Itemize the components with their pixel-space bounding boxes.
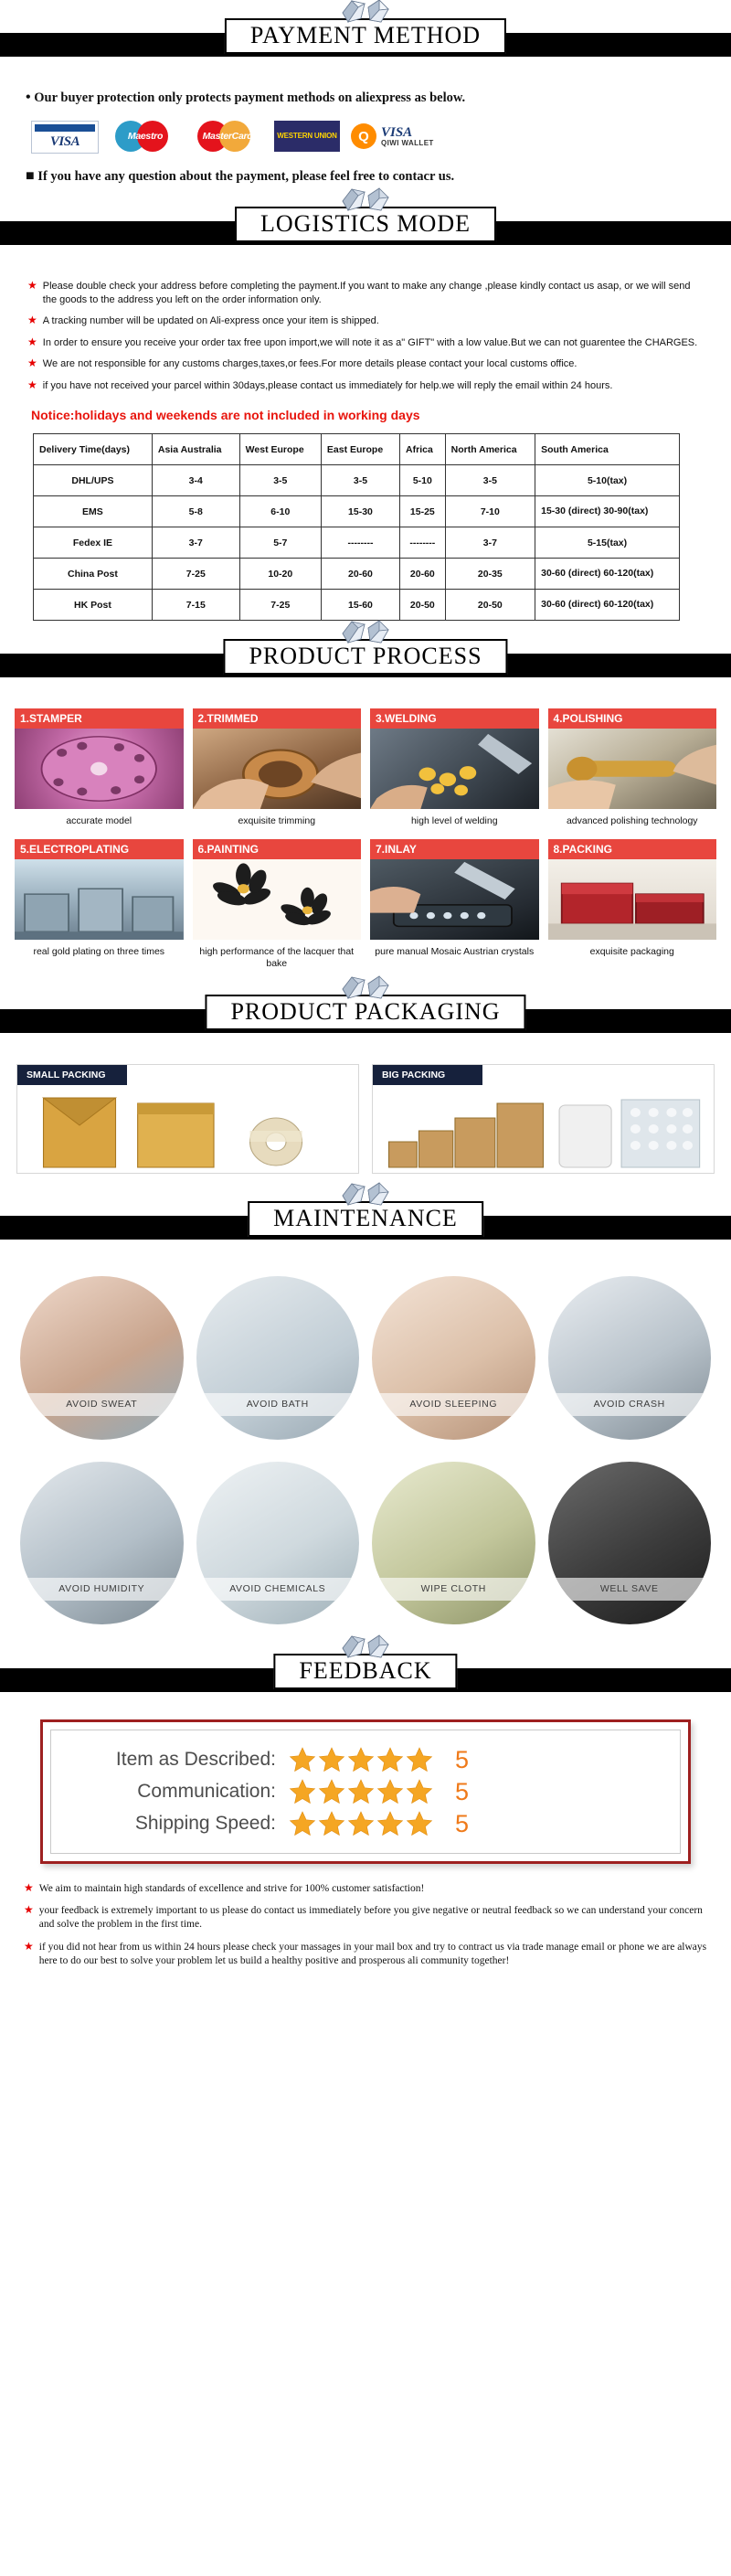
payment-icon-western-union: WESTERN UNION: [274, 121, 340, 152]
cell-method: EMS: [34, 496, 153, 527]
maintenance-image: WIPE CLOTH: [372, 1462, 535, 1625]
process-step-heading: 8.PACKING: [548, 839, 717, 859]
cell-value: 30-60 (direct) 60-120(tax): [535, 559, 680, 590]
col-asia-australia: Asia Australia: [152, 434, 239, 465]
cell-method: China Post: [34, 559, 153, 590]
process-step-heading: 1.STAMPER: [15, 708, 184, 729]
star-icon: [376, 1746, 404, 1773]
star-icon: [406, 1810, 433, 1837]
cell-value: 5-8: [152, 496, 239, 527]
cell-value: 5-10: [400, 465, 446, 496]
process-step-image: [15, 729, 184, 809]
star-icon: [289, 1778, 316, 1805]
packaging-row: SMALL PACKING BIG PACKING: [0, 1059, 731, 1183]
maintenance-image: AVOID HUMIDITY: [20, 1462, 184, 1625]
packaging-box-small: SMALL PACKING: [16, 1064, 359, 1174]
star-icon: ★: [27, 336, 37, 348]
process-step-3: 3.WELDING high level of welding: [370, 708, 539, 830]
process-step-caption: pure manual Mosaic Austrian crystals: [370, 940, 539, 961]
process-step-caption: high performance of the lacquer that bak…: [193, 940, 362, 973]
maintenance-label: WELL SAVE: [548, 1578, 712, 1601]
rating-score: 5: [455, 1780, 469, 1804]
cell-value: 3-5: [445, 465, 535, 496]
maintenance-item-avoid-sleeping: AVOID SLEEPING: [372, 1276, 535, 1440]
section-banner-packaging: PRODUCT PACKAGING: [0, 989, 731, 1049]
maestro-label: Maestro: [110, 131, 181, 142]
maintenance-label: AVOID SWEAT: [20, 1393, 184, 1416]
cell-value: 7-15: [152, 590, 239, 621]
star-icon: [318, 1746, 345, 1773]
process-step-image: [548, 729, 717, 809]
col-africa: Africa: [400, 434, 446, 465]
cell-value: 30-60 (direct) 60-120(tax): [535, 590, 680, 621]
table-row: Fedex IE 3-7 5-7 -------- -------- 3-7 5…: [34, 527, 680, 559]
payment-icon-mastercard: MasterCard: [192, 121, 263, 152]
process-step-heading: 2.TRIMMED: [193, 708, 362, 729]
process-step-caption: accurate model: [15, 809, 184, 830]
cell-value: 5-7: [239, 527, 321, 559]
qiwi-wallet-label: QIWI WALLET: [381, 140, 434, 147]
cell-value: 20-50: [400, 590, 446, 621]
product-detail-page: PAYMENT METHOD • Our buyer protection on…: [0, 0, 731, 1996]
cell-value: --------: [321, 527, 399, 559]
bullet-icon: ■: [26, 168, 35, 184]
process-step-caption: exquisite trimming: [193, 809, 362, 830]
process-step-image: [370, 729, 539, 809]
packaging-label: BIG PACKING: [373, 1065, 482, 1085]
maintenance-label: AVOID CRASH: [548, 1393, 712, 1416]
col-east-europe: East Europe: [321, 434, 399, 465]
process-step-image: [193, 729, 362, 809]
cell-value: --------: [400, 527, 446, 559]
process-step-heading: 6.PAINTING: [193, 839, 362, 859]
cell-value: 20-60: [400, 559, 446, 590]
star-icon: [289, 1746, 316, 1773]
cell-value: 7-25: [239, 590, 321, 621]
maintenance-image: AVOID CHEMICALS: [196, 1462, 360, 1625]
star-icon: [406, 1746, 433, 1773]
star-icon: [406, 1778, 433, 1805]
packaging-label: SMALL PACKING: [17, 1065, 127, 1085]
maintenance-label: AVOID BATH: [196, 1393, 360, 1416]
maintenance-item-avoid-crash: AVOID CRASH: [548, 1276, 712, 1440]
section-banner-maintenance: MAINTENANCE: [0, 1196, 731, 1256]
maintenance-item-well-save: WELL SAVE: [548, 1462, 712, 1625]
process-step-6: 6.PAINTING: [193, 839, 362, 973]
star-icon: ★: [24, 1904, 34, 1916]
maintenance-label: WIPE CLOTH: [372, 1578, 535, 1601]
bullet-icon: •: [26, 90, 31, 105]
qiwi-visa-label: VISA: [381, 126, 434, 140]
rating-label: Item as Described:: [64, 1749, 276, 1771]
maintenance-item-avoid-bath: AVOID BATH: [196, 1276, 360, 1440]
maintenance-label: AVOID HUMIDITY: [20, 1578, 184, 1601]
feedback-note: ★ if you did not hear from us within 24 …: [24, 1941, 707, 1968]
cell-value: 3-7: [152, 527, 239, 559]
process-grid-row2: 5.ELECTROPLATING real gold plating on th…: [0, 834, 731, 976]
section-banner-payment: PAYMENT METHOD: [0, 13, 731, 73]
cell-value: 20-60: [321, 559, 399, 590]
col-south-america: South America: [535, 434, 680, 465]
star-icon: ★: [24, 1882, 34, 1894]
star-icon: ★: [27, 314, 37, 326]
maintenance-item-avoid-sweat: AVOID SWEAT: [20, 1276, 184, 1440]
logistics-note: ★ if you have not received your parcel w…: [27, 379, 704, 393]
cell-value: 5-10(tax): [535, 465, 680, 496]
cell-method: DHL/UPS: [34, 465, 153, 496]
diamond-icon: [334, 1181, 397, 1218]
process-step-caption: high level of welding: [370, 809, 539, 830]
feedback-note: ★ We aim to maintain high standards of e…: [24, 1882, 707, 1896]
process-step-8: 8.PACKING exquisite packaging: [548, 839, 717, 973]
star-icon: ★: [27, 357, 37, 369]
rating-stars: [289, 1778, 433, 1805]
rating-label: Communication:: [64, 1781, 276, 1803]
diamond-icon: [334, 1634, 397, 1670]
rating-row-shipping-speed: Shipping Speed: 5: [64, 1810, 667, 1837]
star-icon: [347, 1746, 375, 1773]
packaging-image: [17, 1085, 358, 1173]
mastercard-label: MasterCard: [192, 131, 263, 142]
logistics-note: ★ A tracking number will be updated on A…: [27, 314, 704, 328]
col-north-america: North America: [445, 434, 535, 465]
process-step-5: 5.ELECTROPLATING real gold plating on th…: [15, 839, 184, 973]
shipping-time-table: Delivery Time(days) Asia Australia West …: [33, 433, 680, 621]
logistics-note: ★ We are not responsible for any customs…: [27, 357, 704, 371]
table-header-row: Delivery Time(days) Asia Australia West …: [34, 434, 680, 465]
process-step-1: 1.STAMPER accurate model: [15, 708, 184, 830]
section-banner-process: PRODUCT PROCESS: [0, 633, 731, 694]
feedback-notes: ★ We aim to maintain high standards of e…: [0, 1873, 731, 1996]
process-step-heading: 4.POLISHING: [548, 708, 717, 729]
star-icon: [318, 1778, 345, 1805]
rating-stars: [289, 1746, 433, 1773]
feedback-rating-card: Item as Described: 5 Communication:: [40, 1719, 691, 1864]
cell-value: 15-30: [321, 496, 399, 527]
cell-value: 3-5: [321, 465, 399, 496]
process-step-caption: advanced polishing technology: [548, 809, 717, 830]
packaging-box-big: BIG PACKING: [372, 1064, 715, 1174]
rating-score: 5: [455, 1812, 469, 1836]
diamond-icon: [334, 619, 397, 655]
cell-value: 20-35: [445, 559, 535, 590]
col-delivery-time: Delivery Time(days): [34, 434, 153, 465]
payment-icon-visa: VISA: [31, 121, 99, 152]
process-step-image: [15, 859, 184, 940]
visa-label: VISA: [32, 132, 98, 153]
process-step-caption: exquisite packaging: [548, 940, 717, 961]
maintenance-image: AVOID BATH: [196, 1276, 360, 1440]
maintenance-item-avoid-chemicals: AVOID CHEMICALS: [196, 1462, 360, 1625]
qiwi-mark: Q: [351, 123, 376, 149]
feedback-note: ★ your feedback is extremely important t…: [24, 1904, 707, 1932]
payment-methods-row: VISA Maestro MasterCard WESTERN UNION Q …: [0, 110, 731, 161]
western-union-label: WESTERN UNION: [274, 121, 340, 152]
table-row: HK Post 7-15 7-25 15-60 20-50 20-50 30-6…: [34, 590, 680, 621]
rating-row-item-as-described: Item as Described: 5: [64, 1746, 667, 1773]
payment-question-note: ■ If you have any question about the pay…: [0, 161, 731, 188]
logistics-notes: ★ Please double check your address befor…: [0, 271, 731, 404]
rating-label: Shipping Speed:: [64, 1813, 276, 1835]
process-step-heading: 5.ELECTROPLATING: [15, 839, 184, 859]
cell-method: Fedex IE: [34, 527, 153, 559]
maintenance-item-wipe-cloth: WIPE CLOTH: [372, 1462, 535, 1625]
maintenance-image: AVOID CRASH: [548, 1276, 712, 1440]
table-row: DHL/UPS 3-4 3-5 3-5 5-10 3-5 5-10(tax): [34, 465, 680, 496]
rating-stars: [289, 1810, 433, 1837]
star-icon: [376, 1778, 404, 1805]
cell-value: 3-5: [239, 465, 321, 496]
maintenance-image: AVOID SLEEPING: [372, 1276, 535, 1440]
rating-score: 5: [455, 1748, 469, 1772]
logistics-note: ★ Please double check your address befor…: [27, 280, 704, 306]
payment-icon-qiwi-wallet: Q VISA QIWI WALLET: [351, 121, 434, 152]
diamond-icon: [334, 974, 397, 1011]
process-step-4: 4.POLISHING advanced polishing technolog…: [548, 708, 717, 830]
cell-value: 15-60: [321, 590, 399, 621]
process-step-image: [193, 859, 362, 940]
star-icon: ★: [27, 379, 37, 391]
diamond-icon: [334, 186, 397, 223]
cell-value: 15-25: [400, 496, 446, 527]
process-grid-row1: 1.STAMPER accurate model 2.TRIMMED: [0, 703, 731, 834]
maintenance-item-avoid-humidity: AVOID HUMIDITY: [20, 1462, 184, 1625]
process-step-heading: 7.INLAY: [370, 839, 539, 859]
cell-value: 7-25: [152, 559, 239, 590]
star-icon: [376, 1810, 404, 1837]
payment-icon-maestro: Maestro: [110, 121, 181, 152]
process-step-image: [548, 859, 717, 940]
rating-row-communication: Communication: 5: [64, 1778, 667, 1805]
section-banner-logistics: LOGISTICS MODE: [0, 201, 731, 261]
star-icon: ★: [24, 1941, 34, 1953]
maintenance-image: AVOID SWEAT: [20, 1276, 184, 1440]
maintenance-image: WELL SAVE: [548, 1462, 712, 1625]
process-step-2: 2.TRIMMED exquisite trimming: [193, 708, 362, 830]
cell-value: 3-7: [445, 527, 535, 559]
star-icon: [318, 1810, 345, 1837]
process-step-caption: real gold plating on three times: [15, 940, 184, 961]
star-icon: [289, 1810, 316, 1837]
cell-method: HK Post: [34, 590, 153, 621]
cell-value: 5-15(tax): [535, 527, 680, 559]
cell-value: 7-10: [445, 496, 535, 527]
table-row: EMS 5-8 6-10 15-30 15-25 7-10 15-30 (dir…: [34, 496, 680, 527]
cell-value: 15-30 (direct) 30-90(tax): [535, 496, 680, 527]
table-row: China Post 7-25 10-20 20-60 20-60 20-35 …: [34, 559, 680, 590]
star-icon: [347, 1810, 375, 1837]
star-icon: [347, 1778, 375, 1805]
diamond-icon: [334, 0, 397, 35]
maintenance-grid-row2: AVOID HUMIDITY AVOID CHEMICALS WIPE CLOT…: [0, 1451, 731, 1636]
star-icon: ★: [27, 280, 37, 292]
process-step-heading: 3.WELDING: [370, 708, 539, 729]
maintenance-grid-row1: AVOID SWEAT AVOID BATH AVOID SLEEPING AV…: [0, 1265, 731, 1451]
logistics-note: ★ In order to ensure you receive your or…: [27, 336, 704, 350]
payment-protection-note: • Our buyer protection only protects pay…: [0, 82, 731, 110]
process-step-7: 7.INLAY pure manual Mosaic Austrian crys…: [370, 839, 539, 973]
cell-value: 3-4: [152, 465, 239, 496]
maintenance-label: AVOID SLEEPING: [372, 1393, 535, 1416]
maintenance-label: AVOID CHEMICALS: [196, 1578, 360, 1601]
process-step-image: [370, 859, 539, 940]
cell-value: 6-10: [239, 496, 321, 527]
holiday-notice: Notice:holidays and weekends are not inc…: [0, 404, 731, 433]
col-west-europe: West Europe: [239, 434, 321, 465]
section-banner-feedback: FEEDBACK: [0, 1648, 731, 1708]
packaging-image: [373, 1085, 714, 1173]
cell-value: 20-50: [445, 590, 535, 621]
cell-value: 10-20: [239, 559, 321, 590]
